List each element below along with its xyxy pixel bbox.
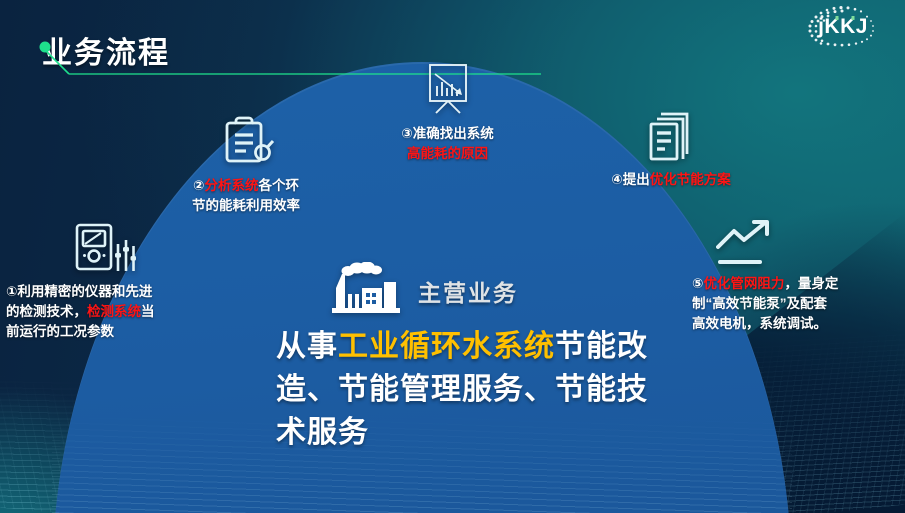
trend-up-arrow-icon [692, 218, 897, 268]
flow-node-4[interactable]: ④提出优化节能方案 [566, 108, 776, 190]
jkkj-logo-svg: jKKJ [799, 4, 891, 48]
text-line: ②分析系统各个环 [146, 176, 346, 196]
flow-node-5[interactable]: ⑤优化管网阻力，量身定制“高效节能泵”及配套高效电机，系统调试。 [692, 218, 897, 334]
flow-node-3[interactable]: ③准确找出系统高能耗的原因 [340, 62, 555, 164]
page-title-text: 业务流程 [42, 32, 170, 76]
text-line: 从事工业循环水系统节能改 [276, 325, 682, 368]
text-run: 各个环 [258, 178, 299, 193]
text-run: ③准确找出系统 [401, 126, 493, 141]
slide-canvas: jKKJ 业务流程 [0, 0, 905, 513]
text-run: 检测系统 [87, 304, 141, 319]
main-business-label: 主营业务 [418, 274, 518, 308]
text-run: 优化管网阻力 [703, 276, 784, 291]
main-business-header: 主营业务 [262, 262, 682, 319]
text-run: ② [193, 178, 204, 193]
text-run: 当 [141, 304, 155, 319]
flow-node-4-text: ④提出优化节能方案 [566, 170, 776, 190]
jkkj-logo: jKKJ [799, 4, 891, 48]
text-line: 高能耗的原因 [340, 144, 555, 164]
text-run: ，量身定 [784, 276, 838, 291]
main-business-body: 从事工业循环水系统节能改造、节能管理服务、节能技术服务 [262, 325, 682, 454]
flow-node-1[interactable]: ①利用精密的仪器和先进的检测技术，检测系统当前运行的工况参数 [6, 222, 221, 342]
main-business-block: 主营业务 从事工业循环水系统节能改造、节能管理服务、节能技术服务 [262, 262, 682, 454]
text-run: 造、节能管理服务、节能技 [276, 373, 648, 406]
text-run: 从事 [276, 330, 338, 363]
text-line: ④提出优化节能方案 [566, 170, 776, 190]
text-line: 节的能耗利用效率 [146, 196, 346, 216]
text-run: 高能耗的原因 [407, 146, 488, 161]
meter-gauge-icon [6, 222, 221, 276]
factory-icon [326, 262, 404, 319]
text-run: 制“高效节能泵”及配套 [692, 296, 827, 311]
flow-node-2[interactable]: ②分析系统各个环节的能耗利用效率 [146, 112, 346, 216]
text-line: 制“高效节能泵”及配套 [692, 294, 897, 314]
flow-node-1-text: ①利用精密的仪器和先进的检测技术，检测系统当前运行的工况参数 [6, 282, 221, 342]
flow-node-3-text: ③准确找出系统高能耗的原因 [340, 124, 555, 164]
text-line: 高效电机，系统调试。 [692, 314, 897, 334]
text-line: ③准确找出系统 [340, 124, 555, 144]
text-line: 的检测技术，检测系统当 [6, 302, 221, 322]
text-run: 节能改 [555, 330, 648, 363]
text-run: 前运行的工况参数 [6, 324, 114, 339]
text-run: ⑤ [692, 276, 703, 291]
text-run: ①利用精密的仪器和先进 [6, 284, 152, 299]
page-title: 业务流程 [42, 32, 170, 76]
flow-node-2-text: ②分析系统各个环节的能耗利用效率 [146, 176, 346, 216]
text-run: 分析系统 [204, 178, 258, 193]
text-run: 的检测技术， [6, 304, 87, 319]
text-line: 术服务 [276, 411, 682, 454]
documents-stack-icon [566, 108, 776, 164]
text-run: 优化节能方案 [650, 172, 731, 187]
text-run: 高效电机，系统调试。 [692, 316, 827, 331]
text-line: ①利用精密的仪器和先进 [6, 282, 221, 302]
logo-wordmark: jKKJ [817, 15, 868, 38]
text-line: 造、节能管理服务、节能技 [276, 368, 682, 411]
text-run: 术服务 [276, 416, 369, 449]
text-line: ⑤优化管网阻力，量身定 [692, 274, 897, 294]
text-line: 前运行的工况参数 [6, 322, 221, 342]
chart-board-decline-icon [340, 62, 555, 118]
clipboard-search-icon [146, 112, 346, 170]
text-run: 工业循环水系统 [338, 330, 555, 363]
text-run: 节的能耗利用效率 [192, 198, 300, 213]
flow-node-5-text: ⑤优化管网阻力，量身定制“高效节能泵”及配套高效电机，系统调试。 [692, 274, 897, 334]
text-run: ④提出 [611, 172, 649, 187]
